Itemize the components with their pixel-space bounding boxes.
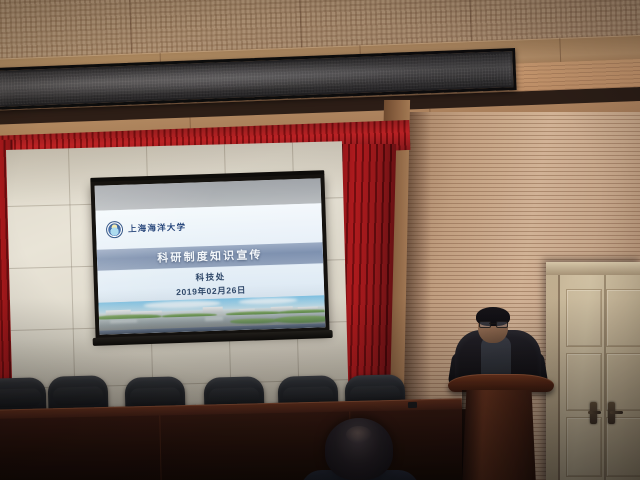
door-center-split bbox=[604, 275, 606, 480]
slide-title: 科研制度知识宣传 bbox=[157, 246, 263, 265]
screen-surface: 上海海洋大学 科研制度知识宣传 科技处 2019年02月26日 bbox=[95, 178, 326, 334]
speaker-glasses-icon bbox=[479, 321, 506, 326]
desk-object bbox=[408, 402, 417, 408]
photo-scene: 上海海洋大学 科研制度知识宣传 科技处 2019年02月26日 bbox=[0, 0, 640, 480]
projection-screen: 上海海洋大学 科研制度知识宣传 科技处 2019年02月26日 bbox=[90, 174, 329, 340]
door-lever-left[interactable] bbox=[588, 411, 601, 414]
door-lever-right[interactable] bbox=[610, 411, 623, 414]
door-header bbox=[546, 262, 640, 275]
slide-department: 科技处 bbox=[195, 270, 226, 283]
audience-scalp-highlight bbox=[346, 426, 372, 443]
university-emblem-icon bbox=[106, 221, 124, 239]
podium-shadow bbox=[462, 390, 482, 480]
presentation-slide: 上海海洋大学 科研制度知识宣传 科技处 2019年02月26日 bbox=[95, 204, 325, 335]
university-name: 上海海洋大学 bbox=[128, 221, 187, 235]
slide-date: 2019年02月26日 bbox=[176, 284, 246, 298]
door-leaf[interactable] bbox=[558, 275, 640, 480]
